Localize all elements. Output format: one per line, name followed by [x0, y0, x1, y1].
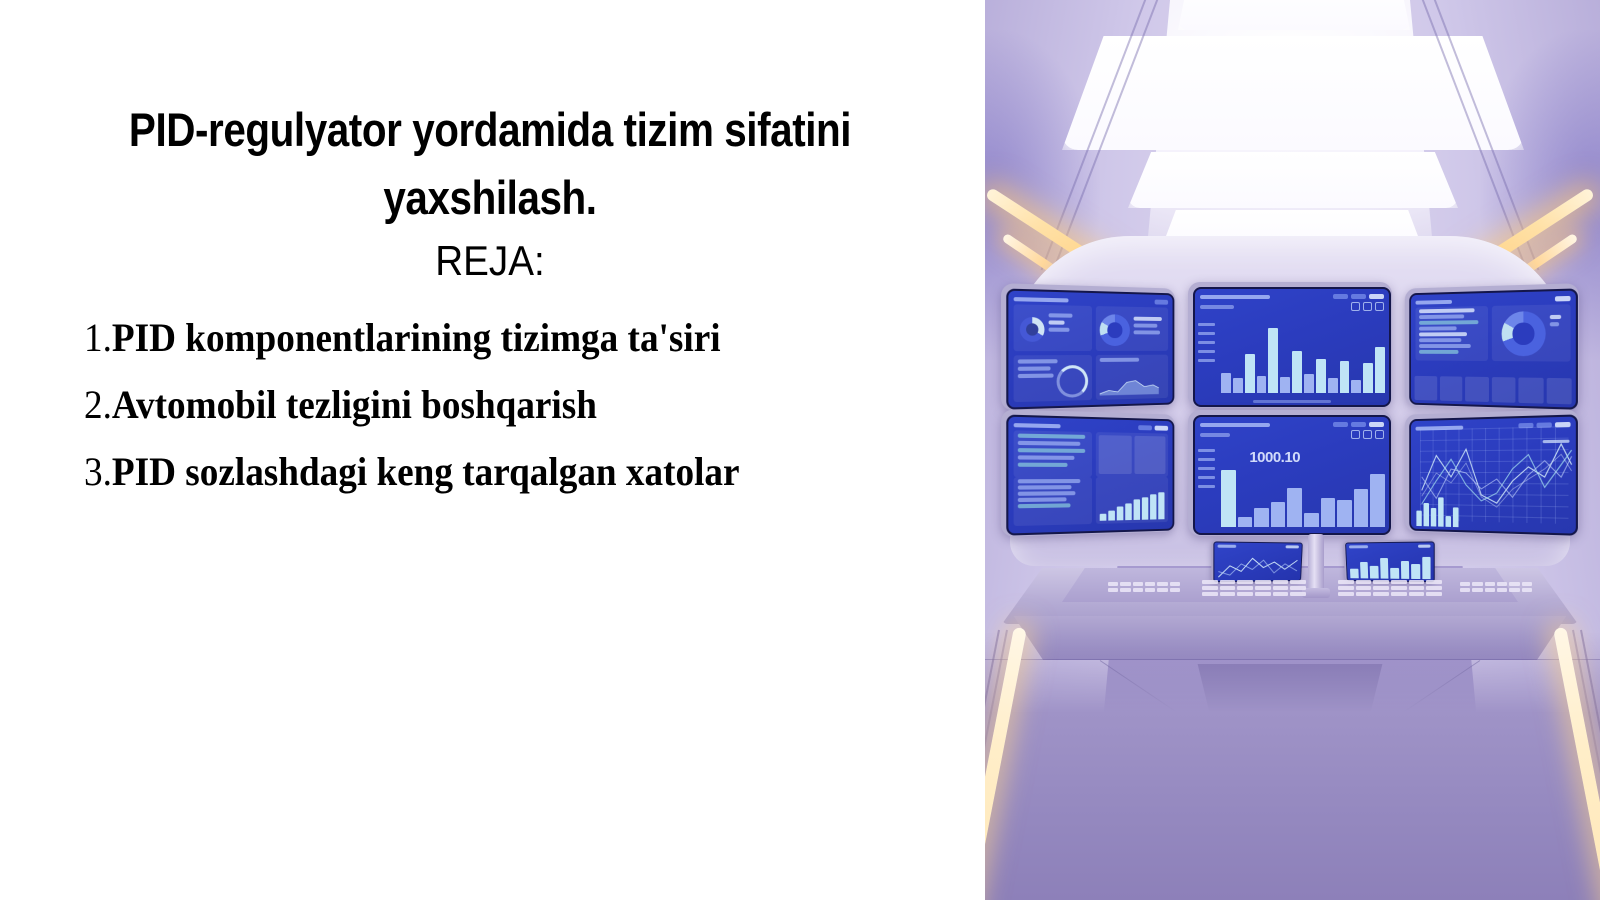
console-post-base — [1302, 588, 1330, 598]
status-chip — [1351, 422, 1366, 427]
chart-footer-label — [1253, 400, 1331, 403]
mini-chip — [1418, 545, 1431, 548]
desk-monitor-left[interactable] — [1211, 539, 1303, 582]
gauge-icon — [1020, 317, 1045, 342]
control-room-image: 1000.10 — [980, 0, 1600, 900]
list-item-text: PID komponentlarining tizimga ta'siri — [112, 315, 721, 360]
donut-widget — [1492, 304, 1571, 361]
status-chip — [1138, 425, 1152, 430]
dashboard-title-bar — [1014, 423, 1061, 428]
bar-chart — [1349, 555, 1430, 580]
monitor-top-left[interactable] — [1001, 283, 1175, 411]
dashboard-title-bar — [1415, 299, 1452, 304]
keypad-far-right[interactable] — [1460, 582, 1532, 592]
list-item: 2.Avtomobil tezligini boshqarish — [84, 371, 865, 438]
kpi-indicator — [1363, 430, 1372, 439]
floor — [980, 632, 1600, 900]
stat-card — [1518, 378, 1543, 404]
status-chip — [1369, 422, 1384, 427]
bar-chart — [1100, 488, 1165, 520]
stat-card — [1546, 378, 1571, 404]
mini-title-bar — [1218, 545, 1237, 548]
bar-chart-widget — [1096, 477, 1168, 524]
list-item: 3.PID sozlashdagi keng tarqalgan xatolar — [84, 438, 865, 505]
mini-title-bar — [1349, 545, 1368, 548]
dashboard-title-bar — [1200, 423, 1270, 427]
monitor-bottom-center[interactable]: 1000.10 — [1188, 410, 1392, 536]
status-chip — [1333, 294, 1348, 299]
kpi-indicator — [1351, 430, 1360, 439]
ceiling-light-panel — [1128, 152, 1458, 208]
status-chip — [1155, 426, 1168, 431]
keypad-far-left[interactable] — [1108, 582, 1180, 592]
ceiling-light-panel — [1178, 0, 1410, 30]
gantt-bars-widget — [1014, 430, 1092, 477]
keypad-center-right[interactable] — [1338, 580, 1442, 596]
donut-widget — [1096, 306, 1168, 351]
bar-chart — [1221, 326, 1385, 393]
monitor-top-center[interactable] — [1188, 282, 1392, 408]
mini-chip — [1286, 545, 1299, 548]
keypad-center-left[interactable] — [1202, 580, 1306, 596]
floor-seam — [980, 659, 1600, 660]
slide-subtitle: REJA: — [94, 236, 885, 286]
kpi-indicator — [1351, 302, 1360, 311]
kpi-indicator — [1375, 430, 1384, 439]
bar-chart — [1221, 462, 1385, 527]
desk-monitor-right[interactable] — [1343, 539, 1435, 582]
list-item-number: 3. — [84, 449, 112, 494]
mini-cards-widget — [1096, 432, 1168, 477]
monitor-bottom-left[interactable] — [1001, 409, 1175, 537]
text-table-widget — [1014, 477, 1092, 526]
ring-widget — [1014, 355, 1092, 402]
kpi-indicator — [1375, 302, 1384, 311]
list-item-number: 1. — [84, 315, 112, 360]
subtitle-bar — [1200, 305, 1234, 309]
donut-chart — [1100, 314, 1130, 346]
list-item-number: 2. — [84, 382, 112, 427]
console-post — [1308, 534, 1324, 592]
list-item-text: Avtomobil tezligini boshqarish — [112, 382, 597, 427]
status-chip — [1333, 422, 1348, 427]
line-chart — [1216, 549, 1299, 582]
status-chip — [1369, 294, 1384, 299]
mini-card — [1099, 435, 1132, 474]
dashboard-title-bar — [1200, 295, 1270, 299]
slide-title: PID-regulyator yordamida tizim sifatini … — [120, 96, 860, 232]
status-chip — [1351, 294, 1366, 299]
monitor-wall: 1000.10 — [998, 278, 1582, 540]
plan-list: 1.PID komponentlarining tizimga ta'siri … — [84, 304, 924, 506]
status-chip — [1555, 296, 1571, 302]
monitor-bottom-right[interactable] — [1405, 409, 1579, 537]
bar-chart — [1416, 494, 1458, 528]
subtitle-bar — [1200, 433, 1230, 437]
kpi-indicator — [1363, 302, 1372, 311]
bar-list-widget — [1415, 306, 1488, 361]
presentation-slide: PID-regulyator yordamida tizim sifatini … — [0, 0, 1600, 900]
mini-card — [1134, 436, 1165, 474]
progress-ring — [1057, 365, 1089, 398]
area-chart-widget — [1096, 355, 1168, 400]
donut-chart — [1502, 311, 1546, 356]
stat-cards-row — [1415, 376, 1572, 404]
stat-card — [1415, 376, 1437, 400]
slide-text-column: PID-regulyator yordamida tizim sifatini … — [0, 0, 980, 900]
list-item: 1.PID komponentlarining tizimga ta'siri — [84, 304, 865, 371]
dashboard-title-bar — [1014, 297, 1069, 302]
area-chart — [1100, 374, 1159, 395]
stat-card — [1491, 377, 1515, 402]
image-left-edge — [980, 0, 985, 900]
gauge-widget — [1014, 304, 1092, 351]
list-item-text: PID sozlashdagi keng tarqalgan xatolar — [112, 449, 740, 494]
stat-card — [1465, 377, 1488, 402]
monitor-top-right[interactable] — [1405, 283, 1579, 411]
status-chip — [1155, 300, 1168, 305]
stat-card — [1439, 377, 1462, 402]
